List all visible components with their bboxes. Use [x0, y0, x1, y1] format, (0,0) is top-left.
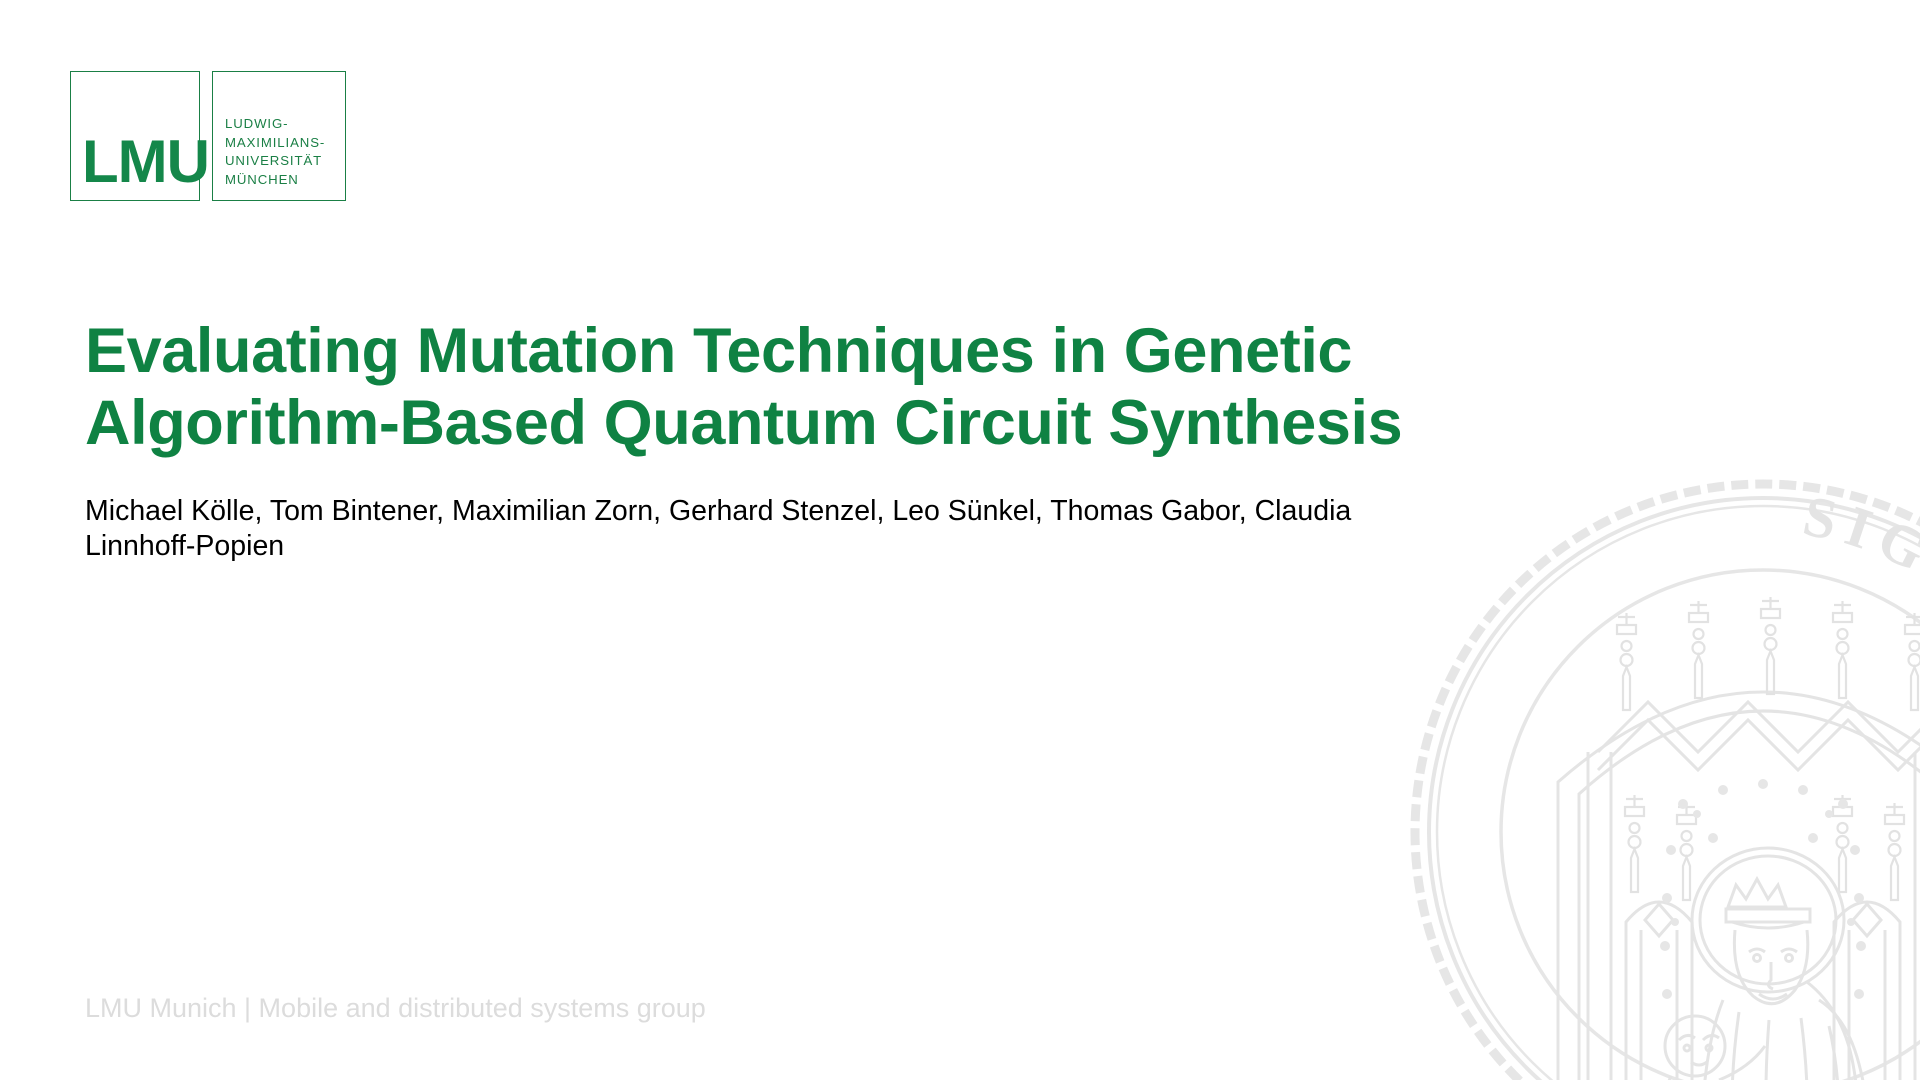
svg-text:SIGILLUM UNIVERSITATIS: SIGILLUM UNIVERSITATIS: [1678, 483, 1920, 1080]
footer: LMU Munich | Mobile and distributed syst…: [85, 992, 706, 1024]
lmu-logo: LMU LUDWIG- MAXIMILIANS- UNIVERSITÄT MÜN…: [70, 71, 346, 201]
lmu-logo-wordmark-box: LUDWIG- MAXIMILIANS- UNIVERSITÄT MÜNCHEN: [212, 71, 346, 201]
page-title: Evaluating Mutation Techniques in Geneti…: [85, 315, 1505, 459]
author-list: Michael Kölle, Tom Bintener, Maximilian …: [85, 494, 1375, 564]
footer-text: LMU Munich | Mobile and distributed syst…: [85, 993, 706, 1023]
title-block: Evaluating Mutation Techniques in Geneti…: [85, 315, 1505, 459]
lmu-logo-mark-box: LMU: [70, 71, 200, 201]
title-slide: SIGILLUM UNIVERSITATIS: [0, 0, 1920, 1080]
university-seal-watermark: SIGILLUM UNIVERSITATIS: [1383, 452, 1920, 1080]
lmu-logo-mark: LMU: [82, 133, 209, 191]
authors-block: Michael Kölle, Tom Bintener, Maximilian …: [85, 494, 1375, 564]
lmu-logo-wordmark: LUDWIG- MAXIMILIANS- UNIVERSITÄT MÜNCHEN: [225, 115, 325, 189]
